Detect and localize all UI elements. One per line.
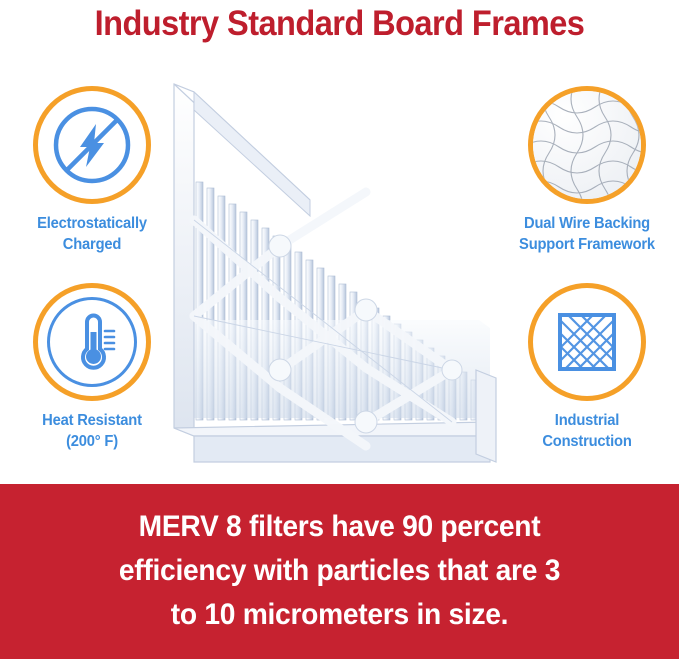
lightning-bolt-no-entry-icon — [38, 91, 146, 199]
banner-line-3: to 10 micrometers in size. — [20, 593, 658, 637]
product-image-pleated-air-filter — [160, 70, 510, 480]
badge-industrial-construction — [528, 283, 646, 401]
feature-label-line2: Construction — [507, 431, 667, 452]
feature-label-heat-resistant: Heat Resistant (200° F) — [12, 410, 172, 452]
feature-label-industrial-construction: Industrial Construction — [507, 410, 667, 452]
badge-electrostatically-charged — [33, 86, 151, 204]
badge-dual-wire-backing — [528, 86, 646, 204]
feature-industrial-construction: Industrial Construction — [503, 283, 671, 452]
feature-label-line1: Heat Resistant — [42, 412, 142, 429]
feature-label-line2: Charged — [12, 234, 172, 255]
feature-label-line2: (200° F) — [12, 431, 172, 452]
feature-label-electrostatically-charged: Electrostatically Charged — [12, 213, 172, 255]
feature-electrostatically-charged: Electrostatically Charged — [8, 86, 176, 255]
feature-label-line1: Electrostatically — [37, 215, 147, 232]
badge-heat-resistant — [33, 283, 151, 401]
pleat-pack — [190, 182, 490, 420]
feature-heat-resistant: Heat Resistant (200° F) — [8, 283, 176, 452]
feature-label-line2: Support Framework — [507, 234, 667, 255]
wire-mesh-photo-icon — [533, 91, 641, 199]
thermometer-icon — [38, 288, 146, 396]
feature-dual-wire-backing: Dual Wire Backing Support Framework — [503, 86, 671, 255]
feature-label-dual-wire-backing: Dual Wire Backing Support Framework — [507, 213, 667, 255]
banner-line-1: MERV 8 filters have 90 percent — [20, 505, 658, 549]
feature-label-line1: Dual Wire Backing — [524, 215, 650, 232]
banner-text: MERV 8 filters have 90 percent efficienc… — [20, 505, 658, 637]
page-title: Industry Standard Board Frames — [24, 2, 655, 46]
wire-mesh-pattern — [533, 91, 641, 199]
infographic-root: Industry Standard Board Frames Electrost… — [0, 0, 679, 659]
lattice-square-icon — [533, 288, 641, 396]
feature-label-line1: Industrial — [555, 412, 619, 429]
banner: MERV 8 filters have 90 percent efficienc… — [0, 484, 679, 659]
banner-line-2: efficiency with particles that are 3 — [20, 549, 658, 593]
